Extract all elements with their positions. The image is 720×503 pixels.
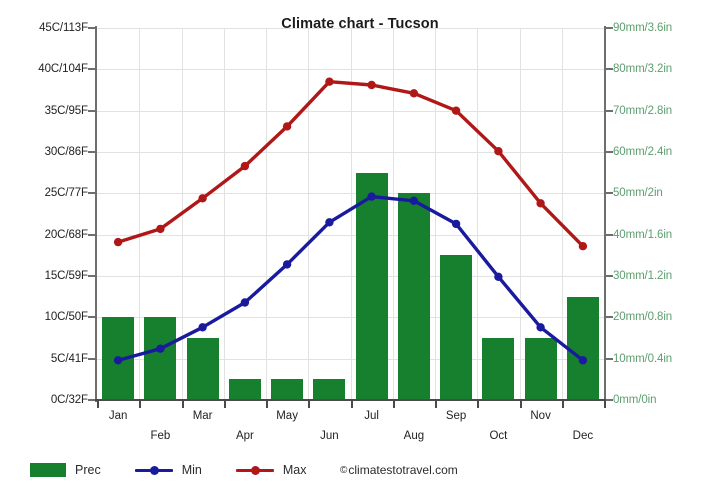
x-axis-tick-mark — [97, 401, 99, 408]
left-axis-tick-label: 25C/77F — [0, 187, 88, 199]
legend-item-min[interactable]: Min — [135, 463, 202, 477]
x-axis-tick-mark — [520, 401, 522, 408]
bottom-axis-spine — [95, 399, 606, 401]
right-axis-tick-mark — [606, 316, 613, 318]
x-axis-tick-mark — [562, 401, 564, 408]
left-axis-tick-label: 15C/59F — [0, 270, 88, 282]
min-swatch-icon — [135, 463, 173, 477]
max-point-jan — [114, 238, 122, 246]
max-point-feb — [156, 225, 164, 233]
right-axis-tick-label: 10mm/0.4in — [613, 353, 672, 365]
right-axis-tick-mark — [606, 358, 613, 360]
max-point-aug — [410, 89, 418, 97]
left-axis-tick-label: 5C/41F — [0, 353, 88, 365]
left-axis-tick-label: 30C/86F — [0, 146, 88, 158]
max-temperature-line — [114, 78, 587, 251]
min-point-feb — [156, 345, 164, 353]
x-axis-label-jun: Jun — [320, 430, 339, 442]
left-axis-tick-mark — [88, 234, 95, 236]
x-axis-label-may: May — [276, 410, 298, 422]
x-axis-label-nov: Nov — [530, 410, 550, 422]
x-axis-label-apr: Apr — [236, 430, 254, 442]
min-point-sep — [452, 220, 460, 228]
max-point-apr — [241, 162, 249, 170]
watermark: © climatestotravel.com — [340, 458, 458, 482]
legend-label-prec: Prec — [75, 463, 101, 477]
min-point-oct — [494, 273, 502, 281]
x-axis-label-mar: Mar — [193, 410, 213, 422]
min-point-dec — [579, 356, 587, 364]
x-axis-label-sep: Sep — [446, 410, 466, 422]
left-axis-spine — [95, 26, 97, 402]
right-axis-tick-label: 80mm/3.2in — [613, 63, 672, 75]
chart-legend: Prec Min Max — [30, 458, 340, 482]
max-point-nov — [536, 199, 544, 207]
min-temperature-line — [114, 192, 587, 364]
left-axis-tick-label: 10C/50F — [0, 311, 88, 323]
left-axis-tick-mark — [88, 110, 95, 112]
x-axis-tick-mark — [266, 401, 268, 408]
x-axis-tick-mark — [351, 401, 353, 408]
left-axis-tick-mark — [88, 358, 95, 360]
max-point-jun — [325, 78, 333, 86]
min-point-may — [283, 260, 291, 268]
left-axis-tick-label: 0C/32F — [0, 394, 88, 406]
right-axis-tick-mark — [606, 151, 613, 153]
climate-chart: Climate chart - Tucson 0C/32F5C/41F10C/5… — [0, 0, 720, 503]
left-axis-tick-label: 35C/95F — [0, 105, 88, 117]
left-axis-tick-mark — [88, 192, 95, 194]
max-point-oct — [494, 147, 502, 155]
x-axis-label-jan: Jan — [109, 410, 128, 422]
right-axis-tick-label: 60mm/2.4in — [613, 146, 672, 158]
right-axis-tick-mark — [606, 110, 613, 112]
x-axis-tick-mark — [182, 401, 184, 408]
x-axis-tick-mark — [139, 401, 141, 408]
right-axis-tick-label: 40mm/1.6in — [613, 229, 672, 241]
min-point-jan — [114, 356, 122, 364]
legend-label-min: Min — [182, 463, 202, 477]
min-point-jul — [367, 192, 375, 200]
right-axis-spine — [604, 26, 606, 402]
prec-swatch-icon — [30, 463, 66, 477]
right-axis-tick-label: 30mm/1.2in — [613, 270, 672, 282]
min-point-mar — [198, 323, 206, 331]
left-axis-tick-mark — [88, 316, 95, 318]
legend-label-max: Max — [283, 463, 307, 477]
min-point-nov — [536, 323, 544, 331]
temperature-series-lines — [97, 28, 604, 400]
legend-item-prec[interactable]: Prec — [30, 463, 101, 477]
copyright-icon: © — [340, 465, 347, 476]
right-axis-tick-label: 70mm/2.8in — [613, 105, 672, 117]
right-axis-tick-mark — [606, 68, 613, 70]
left-axis-tick-label: 20C/68F — [0, 229, 88, 241]
max-point-may — [283, 122, 291, 130]
x-axis-label-aug: Aug — [404, 430, 424, 442]
left-axis-tick-mark — [88, 399, 95, 401]
x-axis-tick-mark — [604, 401, 606, 408]
x-axis-tick-mark — [308, 401, 310, 408]
x-axis-tick-mark — [224, 401, 226, 408]
left-axis-tick-mark — [88, 151, 95, 153]
right-axis-tick-label: 20mm/0.8in — [613, 311, 672, 323]
right-axis-tick-label: 0mm/0in — [613, 394, 656, 406]
right-axis-tick-label: 50mm/2in — [613, 187, 663, 199]
left-axis-tick-mark — [88, 275, 95, 277]
max-point-sep — [452, 107, 460, 115]
left-axis-tick-mark — [88, 68, 95, 70]
legend-item-max[interactable]: Max — [236, 463, 307, 477]
right-axis-tick-mark — [606, 192, 613, 194]
min-point-jun — [325, 218, 333, 226]
watermark-text: climatestotravel.com — [348, 463, 457, 477]
x-axis-label-feb: Feb — [150, 430, 170, 442]
max-polyline — [118, 82, 583, 247]
right-axis-tick-mark — [606, 275, 613, 277]
max-swatch-icon — [236, 463, 274, 477]
right-axis-tick-mark — [606, 399, 613, 401]
max-point-mar — [198, 194, 206, 202]
left-axis-tick-label: 40C/104F — [0, 63, 88, 75]
x-axis-tick-mark — [435, 401, 437, 408]
x-axis-label-jul: Jul — [364, 410, 379, 422]
max-point-jul — [367, 81, 375, 89]
max-point-dec — [579, 242, 587, 250]
min-point-apr — [241, 298, 249, 306]
x-axis-label-dec: Dec — [573, 430, 593, 442]
x-axis-label-oct: Oct — [489, 430, 507, 442]
right-axis-tick-mark — [606, 234, 613, 236]
x-axis-tick-mark — [393, 401, 395, 408]
min-point-aug — [410, 197, 418, 205]
min-polyline — [118, 197, 583, 361]
x-axis-tick-mark — [477, 401, 479, 408]
